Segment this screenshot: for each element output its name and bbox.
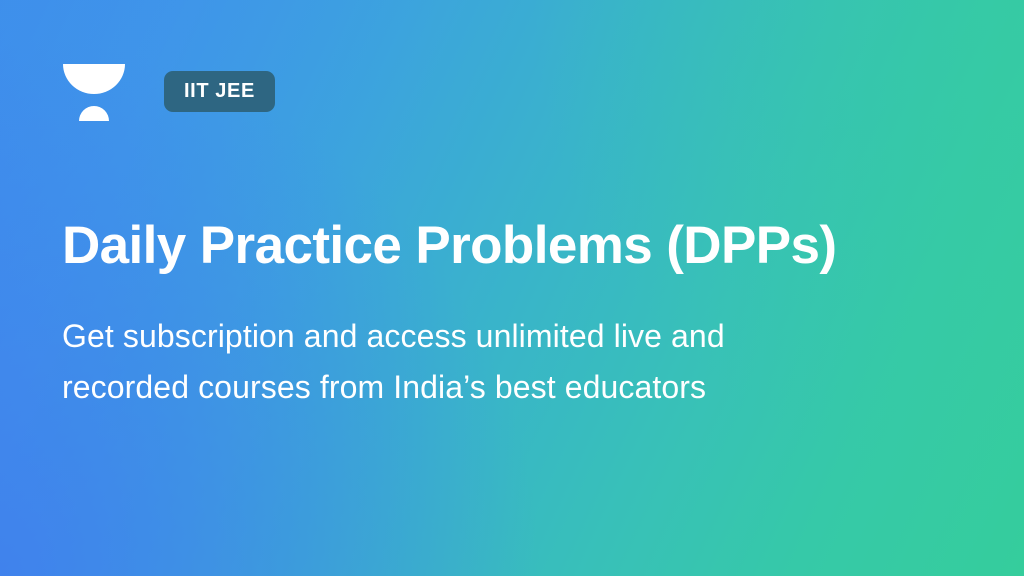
promo-banner: IIT JEE Daily Practice Problems (DPPs) G… (0, 0, 1024, 576)
banner-content-layer: IIT JEE Daily Practice Problems (DPPs) G… (0, 0, 1024, 576)
page-title: Daily Practice Problems (DPPs) (62, 216, 962, 275)
unacademy-bowl-logo-icon (62, 60, 126, 122)
category-badge-iit-jee[interactable]: IIT JEE (164, 71, 275, 112)
banner-subtitle: Get subscription and access unlimited li… (62, 275, 902, 413)
subtitle-line-2: recorded courses from India’s best educa… (62, 362, 902, 413)
subtitle-line-1: Get subscription and access unlimited li… (62, 311, 902, 362)
banner-copy-block: Daily Practice Problems (DPPs) Get subsc… (62, 216, 962, 413)
banner-header: IIT JEE (62, 60, 275, 122)
